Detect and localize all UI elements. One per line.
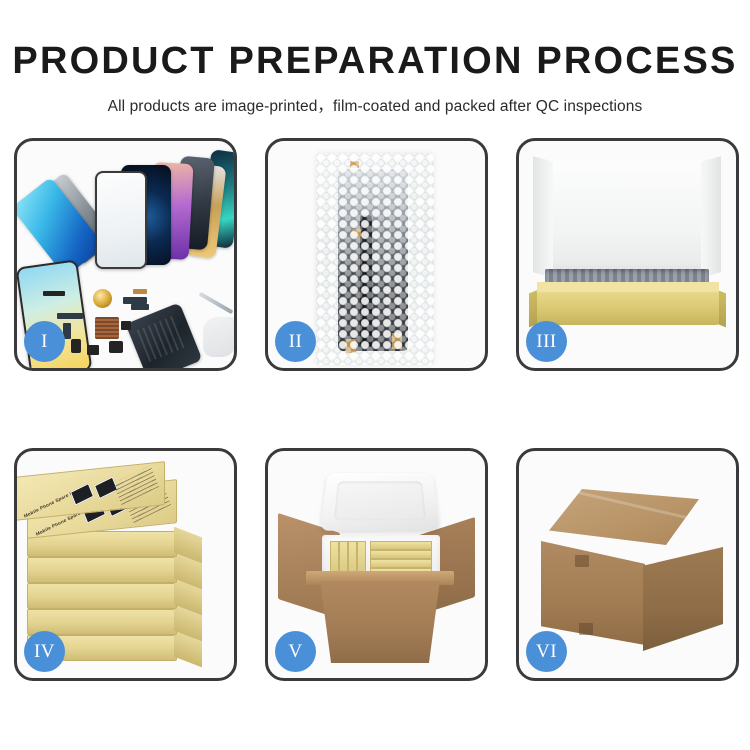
foam-lid-icon [320,473,440,531]
flex-cable-icon-3 [123,297,147,304]
bubble-texture-secondary-icon [316,153,434,365]
hand-icon [203,317,237,357]
panel-step-6[interactable]: VI [516,448,739,681]
gold-contact-icon [133,289,147,294]
box-tray-icon [537,291,719,325]
panel-step-4[interactable]: Mobile Phone Spare Parts Mobile Phone Sp… [14,448,237,681]
carton-front-face-icon [541,541,645,645]
carton-side-face-icon [643,547,723,651]
step-badge-5: V [275,631,316,672]
product-box-7 [370,559,432,568]
box-spec-lines-1 [113,465,159,505]
tweezers-icon [199,292,234,314]
panel-step-3[interactable]: III [516,138,739,371]
small-part-icon-4 [121,321,131,330]
step-badge-2: II [275,321,316,362]
product-box-5 [370,541,432,550]
chip-grid-icon [95,317,119,339]
flex-cable-icon-4 [131,304,149,310]
battery-bar-icon [43,291,65,296]
panel-step-5[interactable]: V [265,448,488,681]
bubble-bag-icon [316,153,434,365]
step-badge-1: I [24,321,65,362]
small-part-icon-3 [109,341,123,353]
phone-housing-icon [125,302,202,371]
stacked-box-4 [27,583,177,609]
screen-glass-icon [95,171,147,269]
panel-step-1[interactable]: I [14,138,237,371]
step-badge-3: III [526,321,567,362]
header: PRODUCT PREPARATION PROCESS All products… [0,0,750,116]
small-part-icon-2 [87,345,99,355]
carton-tab-icon-1 [575,555,589,567]
product-preparation-infographic: PRODUCT PREPARATION PROCESS All products… [0,0,750,750]
process-grid: I II [0,138,750,698]
box-lid-icon [545,159,709,275]
carton-body-icon [312,581,448,663]
panel-step-2[interactable]: II [265,138,488,371]
box-window-1 [70,483,94,506]
stacked-box-3 [27,557,177,583]
page-subtitle: All products are image-printed，film-coat… [0,82,750,116]
step-badge-4: IV [24,631,65,672]
small-part-icon-1 [71,339,81,353]
product-box-6 [370,550,432,559]
carton-tab-icon-2 [579,623,593,635]
flex-cable-icon-1 [57,313,83,319]
step-badge-6: VI [526,631,567,672]
page-title: PRODUCT PREPARATION PROCESS [0,0,750,82]
speaker-coil-icon [93,289,112,308]
